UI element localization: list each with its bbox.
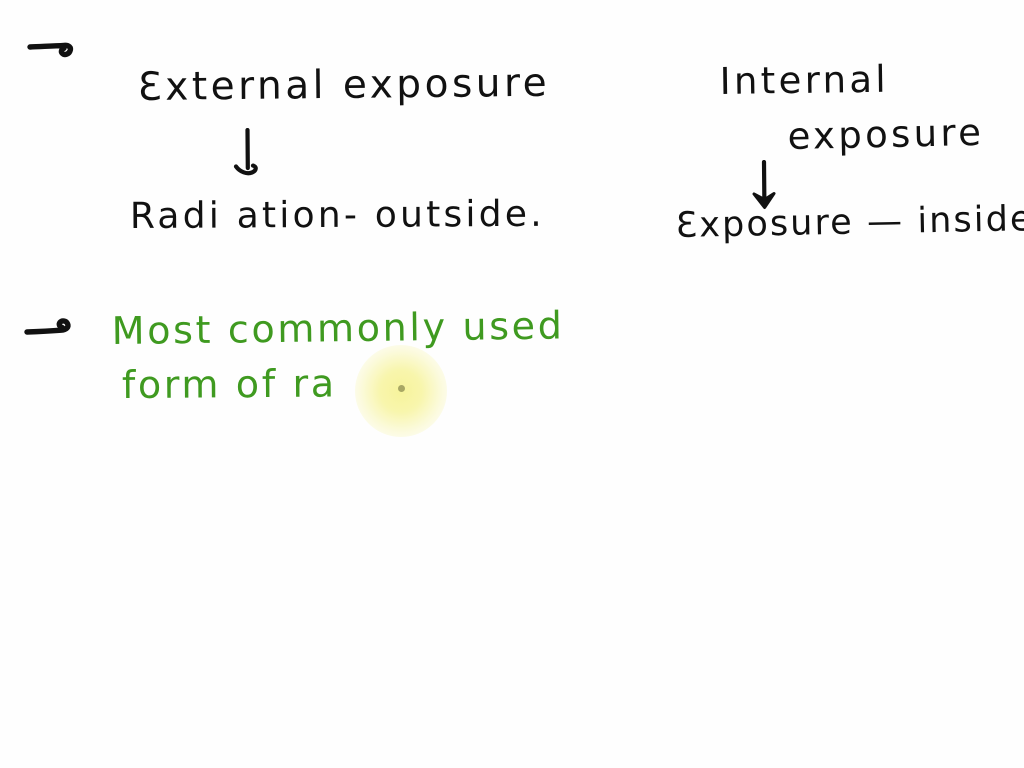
exposure-inside-text: Ɛxposure — inside (675, 202, 1024, 244)
external-exposure-heading: Ɛxternal exposure (138, 64, 551, 107)
pen-cursor-dot (398, 385, 405, 392)
radiation-outside-text: Radi ation- outside. (130, 197, 545, 235)
arrow-right-icon (24, 310, 78, 350)
internal-heading-line-1: Internal (719, 61, 889, 100)
down-arrow-icon (228, 128, 268, 180)
green-note-line-1: Most commonly used (112, 306, 565, 350)
handwriting-canvas: Ɛxternal exposure Radi ation- outside. I… (0, 0, 1024, 768)
internal-heading-line-2: exposure (787, 114, 984, 155)
green-note-line-2: form of ra (122, 365, 337, 404)
arrow-right-icon (26, 28, 80, 68)
